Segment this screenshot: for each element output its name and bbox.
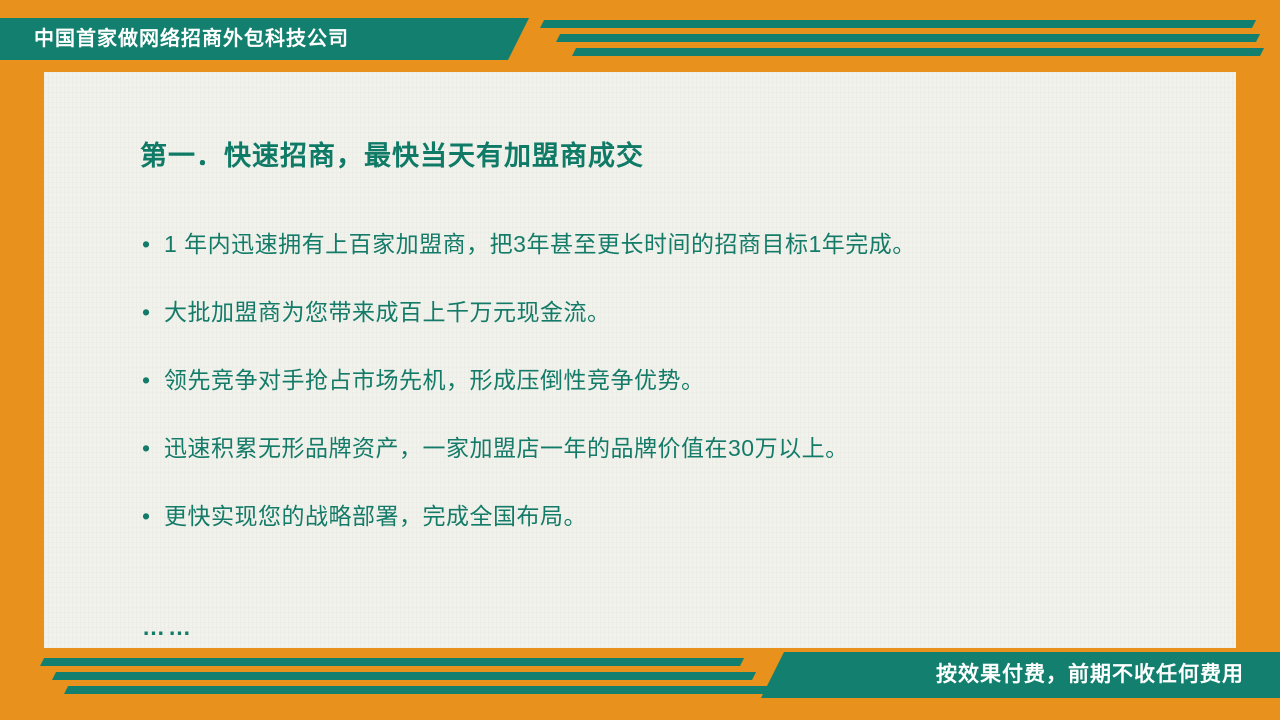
bullet-dot-icon: • [142, 364, 164, 396]
header-stripe-3 [572, 48, 1264, 56]
footer-stripe-1 [40, 658, 744, 666]
list-item-text: 大批加盟商为您带来成百上千万元现金流。 [164, 296, 611, 328]
slide-root: 中国首家做网络招商外包科技公司 第一．快速招商，最快当天有加盟商成交 • 1 年… [0, 0, 1280, 720]
list-item: • 迅速积累无形品牌资产，一家加盟店一年的品牌价值在30万以上。 [142, 432, 1202, 464]
list-item: • 更快实现您的战略部署，完成全国布局。 [142, 500, 1202, 532]
footer-band: 按效果付费，前期不收任何费用 [0, 652, 1280, 698]
bullet-dot-icon: • [142, 228, 164, 260]
list-item: • 大批加盟商为您带来成百上千万元现金流。 [142, 296, 1202, 328]
header-stripe-2 [556, 34, 1260, 42]
ellipsis-text: …… [142, 614, 194, 641]
list-item: • 领先竞争对手抢占市场先机，形成压倒性竞争优势。 [142, 364, 1202, 396]
footer-stripe-2 [52, 672, 756, 680]
bullet-dot-icon: • [142, 296, 164, 328]
footer-stripe-3 [64, 686, 768, 694]
section-heading: 第一．快速招商，最快当天有加盟商成交 [140, 134, 644, 173]
list-item-text: 1 年内迅速拥有上百家加盟商，把3年甚至更长时间的招商目标1年完成。 [164, 228, 916, 260]
header-stripe-1 [540, 20, 1256, 28]
header-title: 中国首家做网络招商外包科技公司 [34, 18, 349, 60]
list-item-text: 领先竞争对手抢占市场先机，形成压倒性竞争优势。 [164, 364, 705, 396]
header-band: 中国首家做网络招商外包科技公司 [0, 18, 1280, 60]
bullet-dot-icon: • [142, 500, 164, 532]
footer-text: 按效果付费，前期不收任何费用 [936, 652, 1244, 698]
list-item-text: 更快实现您的战略部署，完成全国布局。 [164, 500, 587, 532]
list-item-text: 迅速积累无形品牌资产，一家加盟店一年的品牌价值在30万以上。 [164, 432, 849, 464]
list-item: • 1 年内迅速拥有上百家加盟商，把3年甚至更长时间的招商目标1年完成。 [142, 228, 1202, 260]
bullet-list: • 1 年内迅速拥有上百家加盟商，把3年甚至更长时间的招商目标1年完成。 • 大… [142, 228, 1202, 568]
bullet-dot-icon: • [142, 432, 164, 464]
